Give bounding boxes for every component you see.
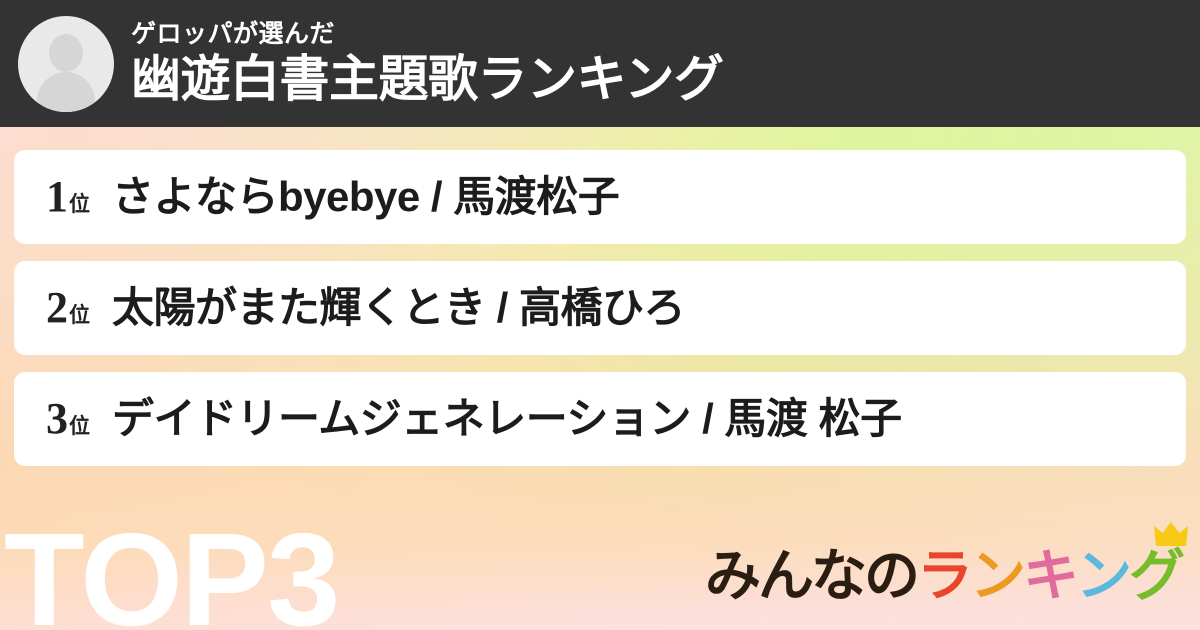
logo-text-ra: ラ: [917, 548, 970, 604]
logo-text-ki: キ: [1023, 548, 1076, 604]
list-item[interactable]: 1位 さよならbyebye / 馬渡松子: [14, 150, 1186, 244]
logo-text-n-second: ン: [1076, 548, 1129, 604]
ranking-list: 1位 さよならbyebye / 馬渡松子 2位 太陽がまた輝くとき / 高橋ひろ…: [14, 150, 1186, 483]
list-item[interactable]: 2位 太陽がまた輝くとき / 高橋ひろ: [14, 261, 1186, 355]
logo-text-minnano: みんなの: [705, 548, 917, 604]
top3-label: TOP3: [4, 514, 338, 630]
rank-title: さよならbyebye / 馬渡松子: [112, 174, 619, 220]
logo-gu-glyph: グ: [1129, 548, 1182, 604]
header-subtitle: ゲロッパが選んだ: [131, 21, 724, 47]
rank-number-group: 1位: [46, 175, 90, 219]
user-avatar-placeholder-icon: [18, 16, 114, 112]
page-title: 幽遊白書主題歌ランキング: [131, 52, 724, 106]
rank-unit: 位: [69, 194, 90, 215]
ranking-og-card: ゲロッパが選んだ 幽遊白書主題歌ランキング 1位 さよならbyebye / 馬渡…: [0, 0, 1200, 630]
rank-number: 1: [46, 175, 68, 219]
rank-unit: 位: [69, 305, 90, 326]
logo-text-n-first: ン: [970, 548, 1023, 604]
rank-number-group: 2位: [46, 286, 90, 330]
rank-unit: 位: [69, 416, 90, 437]
crown-icon: [1154, 522, 1188, 548]
avatar-head-shape: [49, 34, 83, 72]
avatar-body-shape: [37, 72, 95, 112]
rank-number-group: 3位: [46, 397, 90, 441]
header-bar: ゲロッパが選んだ 幽遊白書主題歌ランキング: [0, 0, 1200, 127]
rank-number: 2: [46, 286, 68, 330]
rank-title: 太陽がまた輝くとき / 高橋ひろ: [112, 285, 685, 331]
logo-text-gu: グ: [1129, 548, 1182, 604]
rank-number: 3: [46, 397, 68, 441]
header-text-group: ゲロッパが選んだ 幽遊白書主題歌ランキング: [131, 21, 724, 105]
list-item[interactable]: 3位 デイドリームジェネレーション / 馬渡 松子: [14, 372, 1186, 466]
rank-title: デイドリームジェネレーション / 馬渡 松子: [112, 396, 902, 442]
brand-logo[interactable]: みんなのランキング: [705, 548, 1182, 604]
